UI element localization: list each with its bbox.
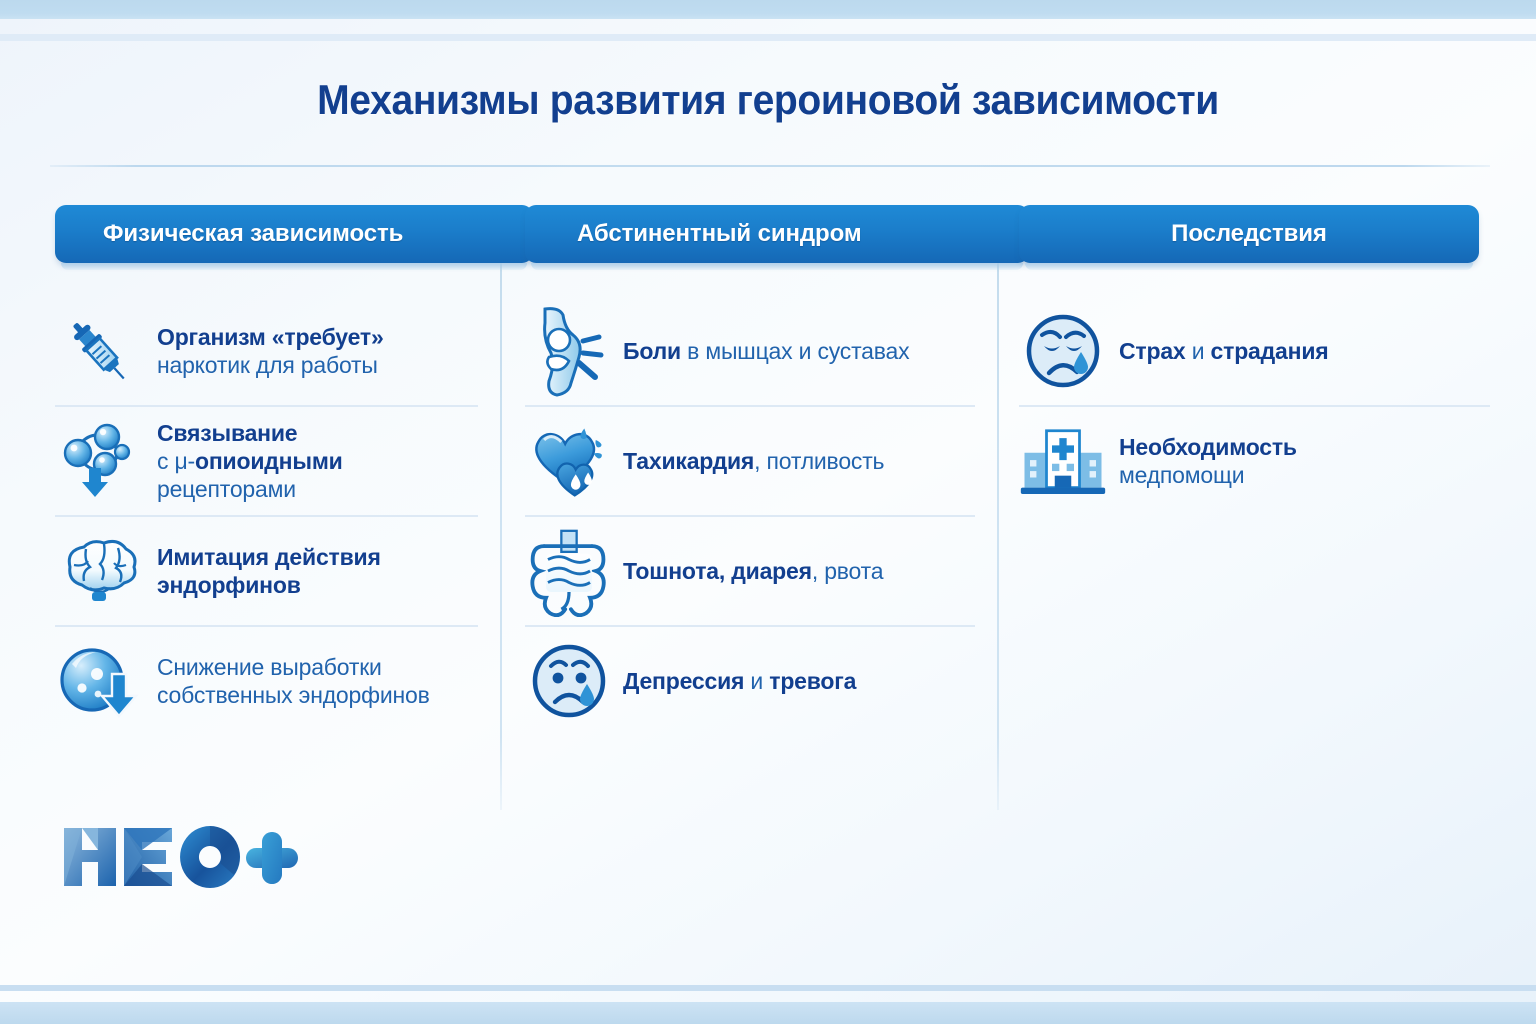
item-bold-text: Депрессия	[623, 668, 744, 694]
item-bold-text: Организм «требует»	[157, 324, 384, 350]
syringe-icon	[55, 307, 143, 395]
cell-down-arrow-icon	[55, 637, 143, 725]
list-item[interactable]: Связывание с μ-опиоидными рецепторами	[55, 405, 478, 515]
item-bold-text: Тахикардия	[623, 448, 754, 474]
item-regular-text: медпомощи	[1119, 462, 1244, 488]
heart-sweat-icon	[525, 417, 613, 505]
column-header-consequences[interactable]: Последствия	[1019, 205, 1479, 263]
list-item-text: Имитация действия эндорфинов	[157, 543, 381, 599]
list-item-text: Организм «требует» наркотик для работы	[157, 323, 384, 379]
top-accent-line	[0, 34, 1536, 41]
bottom-decorative-band	[0, 1002, 1536, 1024]
item-regular-text: , рвота	[812, 558, 884, 584]
column-header-label: Физическая зависимость	[103, 220, 403, 248]
item-regular-text: и	[744, 668, 769, 694]
page-title: Механизмы развития героиновой зависимост…	[54, 76, 1482, 124]
column-physical-dependence: Физическая зависимость	[0, 205, 500, 735]
column-withdrawal-syndrome: Абстинентный синдром	[500, 205, 997, 735]
knee-joint-pain-icon	[525, 307, 613, 395]
item-mid-regular-text: с μ-	[157, 448, 195, 474]
column-header-label: Абстинентный синдром	[577, 220, 861, 248]
hospital-icon	[1019, 417, 1107, 505]
title-divider-rule	[50, 165, 1490, 167]
item-list-withdrawal-syndrome: Боли в мышцах и суставах	[525, 297, 975, 735]
column-consequences: Последствия	[997, 205, 1536, 735]
sad-face-tear-icon	[525, 637, 613, 725]
list-item[interactable]: Страх и страдания	[1019, 297, 1490, 405]
item-regular-text: Снижение выработки	[157, 654, 382, 680]
list-item-text: Связывание с μ-опиоидными рецепторами	[157, 419, 343, 503]
item-bold-text-2: страдания	[1211, 338, 1329, 364]
item-bold-text: Страх	[1119, 338, 1186, 364]
list-item[interactable]: Боли в мышцах и суставах	[525, 297, 975, 405]
column-header-physical-dependence[interactable]: Физическая зависимость	[55, 205, 533, 263]
column-header-withdrawal-syndrome[interactable]: Абстинентный синдром	[525, 205, 1029, 263]
list-item-text: Депрессия и тревога	[623, 667, 856, 695]
item-bold-text: Имитация действия	[157, 544, 381, 570]
list-item-text: Необходимость медпомощи	[1119, 433, 1297, 489]
item-bold-text-2: тревога	[769, 668, 856, 694]
item-list-consequences: Страх и страдания	[1019, 297, 1490, 515]
list-item-text: Снижение выработки собственных эндорфино…	[157, 653, 430, 709]
item-regular-text-2: собственных эндорфинов	[157, 682, 430, 708]
item-mid-bold-text: опиоидными	[195, 448, 343, 474]
list-item[interactable]: Снижение выработки собственных эндорфино…	[55, 625, 478, 735]
brain-icon	[55, 527, 143, 615]
item-regular-text: наркотик для работы	[157, 352, 378, 378]
intestines-icon	[525, 527, 613, 615]
item-bold-text: Боли	[623, 338, 681, 364]
item-bold-text: Тошнота, диарея	[623, 558, 812, 584]
molecule-receptor-icon	[55, 417, 143, 505]
list-item[interactable]: Депрессия и тревога	[525, 625, 975, 735]
list-item-text: Тошнота, диарея, рвота	[623, 557, 883, 585]
list-item[interactable]: Тошнота, диарея, рвота	[525, 515, 975, 625]
brand-logo[interactable]	[60, 818, 300, 896]
item-list-physical-dependence: Организм «требует» наркотик для работы	[55, 297, 478, 735]
infographic-poster: Механизмы развития героиновой зависимост…	[0, 0, 1536, 1024]
item-bold-text: Связывание	[157, 420, 297, 446]
bottom-accent-line	[0, 985, 1536, 991]
crying-face-icon	[1019, 307, 1107, 395]
column-header-label: Последствия	[1171, 220, 1327, 248]
list-item[interactable]: Необходимость медпомощи	[1019, 405, 1490, 515]
item-bold-text-2: эндорфинов	[157, 572, 301, 598]
list-item[interactable]: Имитация действия эндорфинов	[55, 515, 478, 625]
list-item-text: Боли в мышцах и суставах	[623, 337, 909, 365]
list-item[interactable]: Тахикардия, потливость	[525, 405, 975, 515]
item-bold-text: Необходимость	[1119, 434, 1297, 460]
list-item-text: Страх и страдания	[1119, 337, 1329, 365]
list-item-text: Тахикардия, потливость	[623, 447, 884, 475]
top-decorative-band	[0, 0, 1536, 19]
list-item[interactable]: Организм «требует» наркотик для работы	[55, 297, 478, 405]
item-regular-text: рецепторами	[157, 476, 296, 502]
item-regular-text: и	[1186, 338, 1211, 364]
item-regular-text: , потливость	[754, 448, 884, 474]
item-regular-text: в мышцах и суставах	[681, 338, 909, 364]
columns-container: Физическая зависимость	[0, 205, 1536, 735]
